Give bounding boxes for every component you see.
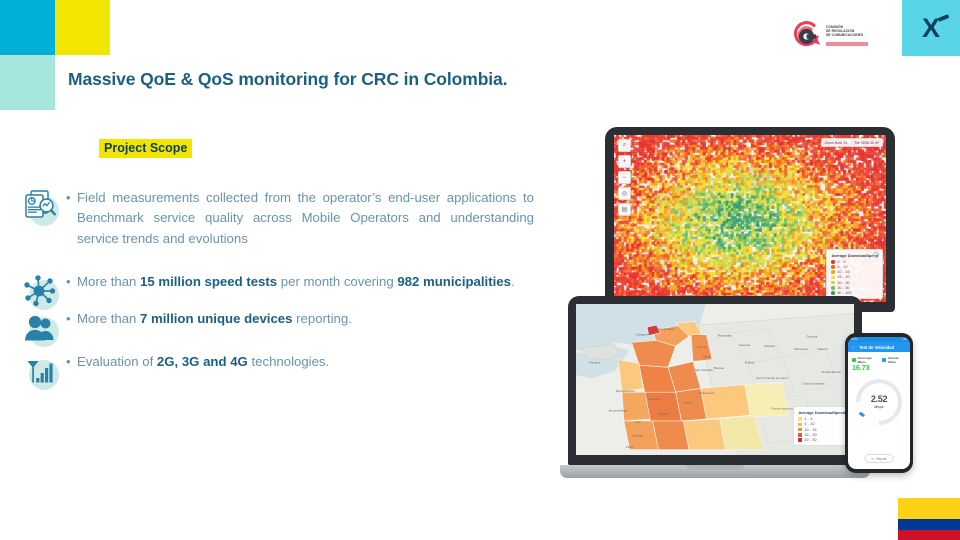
zoom-level-label: Zoom level 13 <box>825 141 848 145</box>
bullet-icon-1 <box>18 188 66 249</box>
upload-metric: Subida Mbps -- -- -- -- <box>882 356 906 372</box>
legend-label: 10 .. 15 <box>805 428 817 432</box>
legend-label: 15 .. 20 <box>838 275 850 279</box>
crc-logo-text: COMISIÓN DE REGULACIÓN DE COMUNICACIONES <box>826 25 880 37</box>
legend-title: Average DownloadSpeed <box>798 410 845 415</box>
list-item: • Field measurements collected from the … <box>18 188 538 249</box>
legend-swatch <box>798 428 802 432</box>
colombia-flag <box>898 498 960 540</box>
legend-row: 0 .. 5 <box>831 260 878 264</box>
layers-icon[interactable]: ▤ <box>618 203 631 216</box>
signal-bars-icon <box>21 352 63 392</box>
bullet-list: • Field measurements collected from the … <box>18 188 538 372</box>
crc-logo-underbar <box>826 42 868 46</box>
repeat-test-label: Repetir <box>876 457 886 461</box>
map-status-badge: Zoom level 13 | Tile 4035.33 m² <box>821 138 883 147</box>
list-item-text: • Evaluation of 2G, 3G and 4G technologi… <box>66 352 538 372</box>
decor-block-mint <box>0 55 55 110</box>
flag-stripe-yellow <box>898 498 960 519</box>
list-item: • More than 15 million speed tests per m… <box>18 272 538 292</box>
legend-label: 1 .. 5 <box>805 417 813 421</box>
legend-label: 5 .. 10 <box>805 422 815 426</box>
legend-label: 20 .. 30 <box>805 438 817 442</box>
map-controls: ⌕ + − ◎ ▤ <box>618 139 631 216</box>
repeat-test-button[interactable]: ⟳ Repetir <box>865 454 894 463</box>
legend-row: 10 .. 15 <box>831 270 878 274</box>
phone-device: 10:42 LTE ← Test de Velocidad Descarga M… <box>845 333 913 473</box>
x-logo-glyph: X <box>922 15 940 42</box>
laptop-heatmap-device: ⌕ + − ◎ ▤ Zoom level 13 | Tile 4035.33 m… <box>605 127 895 312</box>
download-metric: Descarga Mbps 16.73 <box>852 356 876 372</box>
legend-swatch <box>798 438 802 442</box>
zoom-in-icon[interactable]: + <box>618 155 631 168</box>
legend-title: Average DownloadSpeed <box>831 253 878 258</box>
crc-logo-mark <box>790 19 824 51</box>
upload-color-chip <box>882 358 886 363</box>
list-item-text: • Field measurements collected from the … <box>66 188 538 249</box>
badge-separator: | <box>850 141 851 145</box>
speed-gauge: 2.52 Mbps <box>856 379 902 425</box>
legend-swatch <box>831 286 835 290</box>
devices-collage: ⌕ + − ◎ ▤ Zoom level 13 | Tile 4035.33 m… <box>520 118 940 508</box>
legend-swatch <box>831 265 835 269</box>
status-network-icon: LTE <box>902 338 907 341</box>
legend-row: 20 .. 30 <box>798 438 845 442</box>
gauge-value: 2.52 <box>856 394 902 404</box>
legend-label: 30 .. 50 <box>838 286 850 290</box>
bullet-marker: • <box>66 352 71 372</box>
phone-frame: 10:42 LTE ← Test de Velocidad Descarga M… <box>845 333 913 473</box>
download-value: 16.73 <box>852 365 876 372</box>
legend-label: 5 .. 10 <box>838 265 848 269</box>
flag-stripe-blue <box>898 519 960 530</box>
people-icon <box>21 309 63 349</box>
legend-swatch <box>831 260 835 264</box>
bullet-marker: • <box>66 188 71 208</box>
document-search-icon <box>21 188 63 228</box>
list-item-body: More than 15 million speed tests per mon… <box>66 272 534 292</box>
section-heading: Project Scope <box>99 139 192 158</box>
choropleth-legend: Average DownloadSpeed 1 .. 55 .. 1010 ..… <box>793 406 850 446</box>
upload-metric-header: Subida Mbps <box>882 356 906 364</box>
decor-block-yellow <box>55 0 110 55</box>
legend-row: 10 .. 15 <box>798 428 845 432</box>
page-title: Massive QoE & QoS monitoring for CRC in … <box>68 69 507 90</box>
download-label: Descarga Mbps <box>858 356 876 364</box>
legend-swatch <box>831 276 835 280</box>
legend-label: 15 .. 20 <box>805 433 817 437</box>
flag-stripe-red <box>898 530 960 540</box>
crc-text-line3: DE COMUNICACIONES <box>826 33 880 37</box>
refresh-icon: ⟳ <box>872 457 875 461</box>
phone-app-bar: ← Test de Velocidad <box>848 342 910 352</box>
download-metric-header: Descarga Mbps <box>852 356 876 364</box>
laptop-bezel: Santa Marta Cartagena Maracaibo Valencia… <box>568 296 862 466</box>
list-item: • Evaluation of 2G, 3G and 4G technologi… <box>18 352 538 372</box>
legend-row: 1 .. 5 <box>798 417 845 421</box>
legend-swatch <box>798 433 802 437</box>
bullet-marker: • <box>66 309 71 329</box>
list-item-text: • More than 15 million speed tests per m… <box>66 272 538 292</box>
list-item: • More than 7 million unique devices rep… <box>18 309 538 329</box>
laptop-screen: Santa Marta Cartagena Maracaibo Valencia… <box>576 304 854 455</box>
legend-row: 50 .. 100 <box>831 291 878 295</box>
legend-swatch <box>831 281 835 285</box>
search-icon[interactable]: ⌕ <box>618 139 631 152</box>
legend-label: 20 .. 30 <box>838 281 850 285</box>
bullet-icon-4 <box>18 352 66 372</box>
bullet-icon-2 <box>18 272 66 292</box>
legend-row: 5 .. 10 <box>798 422 845 426</box>
laptop-choropleth-device: Santa Marta Cartagena Maracaibo Valencia… <box>560 296 870 478</box>
x-logo: X <box>902 0 960 56</box>
upload-label: Subida Mbps <box>888 356 906 364</box>
heatmap-canvas[interactable]: ⌕ + − ◎ ▤ Zoom level 13 | Tile 4035.33 m… <box>614 135 886 302</box>
legend-row: 5 .. 10 <box>831 265 878 269</box>
legend-swatch <box>798 417 802 421</box>
phone-screen: 10:42 LTE ← Test de Velocidad Descarga M… <box>848 337 910 469</box>
laptop-screen: ⌕ + − ◎ ▤ Zoom level 13 | Tile 4035.33 m… <box>614 135 886 302</box>
list-item-body: Field measurements collected from the op… <box>66 188 534 249</box>
phone-metrics: Descarga Mbps 16.73 Subida Mbps -- -- --… <box>848 352 910 372</box>
bullet-icon-3 <box>18 309 66 329</box>
list-item-text: • More than 7 million unique devices rep… <box>66 309 538 329</box>
laptop-base-notch <box>686 465 744 470</box>
legend-row: 30 .. 50 <box>831 286 878 290</box>
network-nodes-icon <box>21 272 63 312</box>
legend-label: 50 .. 100 <box>838 291 852 295</box>
legend-label: 0 .. 5 <box>838 260 846 264</box>
status-clock: 10:42 <box>851 338 858 341</box>
crc-logo: COMISIÓN DE REGULACIÓN DE COMUNICACIONES <box>790 19 880 51</box>
app-title: Test de Velocidad <box>859 345 894 350</box>
legend-row: 15 .. 20 <box>798 433 845 437</box>
legend-row: 15 .. 20 <box>831 275 878 279</box>
legend-swatch <box>831 291 835 295</box>
tile-size-label: Tile 4035.33 m² <box>854 141 879 145</box>
laptop-bezel: ⌕ + − ◎ ▤ Zoom level 13 | Tile 4035.33 m… <box>605 127 895 312</box>
legend-row: 20 .. 30 <box>831 281 878 285</box>
arrow-left-icon[interactable]: ← <box>851 345 856 350</box>
legend-label: 10 .. 15 <box>838 270 850 274</box>
zoom-out-icon[interactable]: − <box>618 171 631 184</box>
upload-value: -- -- -- -- <box>882 367 906 371</box>
legend-swatch <box>831 270 835 274</box>
decor-block-cyan <box>0 0 55 55</box>
heatmap-legend: Average DownloadSpeed ✳ 0 .. 55 .. 1010 … <box>826 249 883 299</box>
gauge-unit: Mbps <box>856 405 902 409</box>
legend-swatch <box>798 423 802 427</box>
target-icon[interactable]: ◎ <box>618 187 631 200</box>
bullet-marker: • <box>66 272 71 292</box>
list-item-body: Evaluation of 2G, 3G and 4G technologies… <box>66 352 534 372</box>
choropleth-canvas[interactable]: Santa Marta Cartagena Maracaibo Valencia… <box>576 304 854 455</box>
list-item-body: More than 7 million unique devices repor… <box>66 309 534 329</box>
download-color-chip <box>852 358 856 363</box>
gear-icon[interactable]: ✳ <box>873 252 879 258</box>
